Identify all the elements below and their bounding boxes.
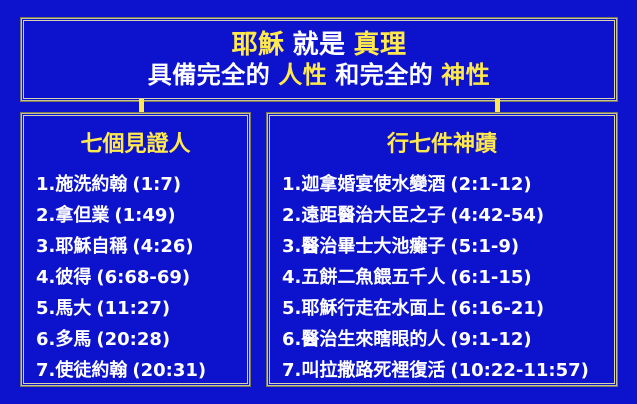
witnesses-list: 1.施洗約翰(1:7)2.拿但業(1:49)3.耶穌自稱(4:26)4.彼得(6…: [22, 170, 249, 387]
witness-item-text: 施洗約翰: [55, 170, 127, 201]
witness-item-text: 耶穌自稱: [55, 232, 127, 263]
title-line-2-segment-1: 具備完全的: [148, 61, 271, 89]
miracles-panel: 行七件神蹟 1.迦拿婚宴使水變酒(2:1-12)2.遠距醫治大臣之子(4:42-…: [267, 113, 617, 386]
witness-item-number: 5.: [36, 294, 55, 325]
witness-item: 4.彼得(6:68-69): [36, 263, 249, 294]
miracle-item-text: 醫治畢士大池癱子: [301, 232, 445, 263]
miracle-item-reference: (9:1-12): [450, 325, 531, 356]
witness-item-text: 多馬: [55, 325, 91, 356]
witness-item: 5.馬大(11:27): [36, 294, 249, 325]
miracle-item-reference: (2:1-12): [450, 170, 531, 201]
title-line-2-segment-4: 神性: [441, 61, 490, 89]
miracle-item-reference: (10:22-11:57): [450, 356, 589, 387]
miracle-item: 5.耶穌行走在水面上(6:16-21): [282, 294, 616, 325]
witness-item-number: 2.: [36, 201, 55, 232]
witnesses-heading: 七個見證人: [22, 126, 249, 158]
miracle-item-text: 迦拿婚宴使水變酒: [301, 170, 445, 201]
title-line-1-segment-3: 真理: [354, 30, 407, 60]
miracle-item-number: 3.: [282, 232, 301, 263]
title-line-2-segment-2: 人性: [278, 61, 327, 89]
witness-item: 3.耶穌自稱(4:26): [36, 232, 249, 263]
miracle-item-text: 五餅二魚餵五千人: [301, 263, 445, 294]
witness-item-number: 1.: [36, 170, 55, 201]
title-panel: 耶穌就是真理 具備完全的人性和完全的神性: [21, 18, 617, 101]
miracle-item: 6.醫治生來瞎眼的人(9:1-12): [282, 325, 616, 356]
miracle-item: 1.迦拿婚宴使水變酒(2:1-12): [282, 170, 616, 201]
witness-item-text: 拿但業: [55, 201, 109, 232]
miracles-list: 1.迦拿婚宴使水變酒(2:1-12)2.遠距醫治大臣之子(4:42-54)3.醫…: [268, 170, 616, 387]
title-line-2-segment-3: 和完全的: [335, 61, 433, 89]
title-line-1: 耶穌就是真理: [231, 31, 406, 59]
witness-item-reference: (1:49): [114, 201, 175, 232]
witness-item-reference: (20:31): [132, 356, 206, 387]
witnesses-panel: 七個見證人 1.施洗約翰(1:7)2.拿但業(1:49)3.耶穌自稱(4:26)…: [21, 113, 250, 386]
witness-item-number: 7.: [36, 356, 55, 387]
miracle-item-text: 叫拉撒路死裡復活: [301, 356, 445, 387]
miracle-item-number: 5.: [282, 294, 301, 325]
witness-item: 2.拿但業(1:49): [36, 201, 249, 232]
miracle-item-number: 7.: [282, 356, 301, 387]
witness-item: 6.多馬(20:28): [36, 325, 249, 356]
miracle-item-reference: (5:1-9): [450, 232, 519, 263]
miracle-item-text: 耶穌行走在水面上: [301, 294, 445, 325]
witness-item-reference: (20:28): [96, 325, 170, 356]
title-line-1-segment-1: 耶穌: [231, 30, 284, 60]
witness-item-reference: (4:26): [132, 232, 193, 263]
witness-item-reference: (1:7): [132, 170, 181, 201]
title-line-1-segment-2: 就是: [292, 30, 345, 60]
miracle-item-number: 4.: [282, 263, 301, 294]
miracle-item: 3.醫治畢士大池癱子(5:1-9): [282, 232, 616, 263]
miracles-heading: 行七件神蹟: [268, 126, 616, 158]
witness-item-number: 4.: [36, 263, 55, 294]
miracle-item-text: 遠距醫治大臣之子: [301, 201, 445, 232]
witness-item-text: 使徒約翰: [55, 356, 127, 387]
miracle-item-reference: (6:1-15): [450, 263, 531, 294]
miracle-item: 7.叫拉撒路死裡復活(10:22-11:57): [282, 356, 616, 387]
witness-item-number: 3.: [36, 232, 55, 263]
miracle-item-number: 2.: [282, 201, 301, 232]
witness-item-text: 彼得: [55, 263, 91, 294]
connector-line-left: [139, 99, 144, 113]
witness-item: 7.使徒約翰(20:31): [36, 356, 249, 387]
slide-canvas: { "slide": { "background_color": "#0d12c…: [0, 0, 637, 404]
connector-line-right: [495, 99, 500, 113]
miracle-item-reference: (6:16-21): [450, 294, 544, 325]
miracle-item-number: 6.: [282, 325, 301, 356]
miracle-item-text: 醫治生來瞎眼的人: [301, 325, 445, 356]
witness-item-number: 6.: [36, 325, 55, 356]
miracle-item: 4.五餅二魚餵五千人(6:1-15): [282, 263, 616, 294]
witness-item-text: 馬大: [55, 294, 91, 325]
witness-item-reference: (6:68-69): [96, 263, 190, 294]
witness-item: 1.施洗約翰(1:7): [36, 170, 249, 201]
miracle-item: 2.遠距醫治大臣之子(4:42-54): [282, 201, 616, 232]
miracle-item-number: 1.: [282, 170, 301, 201]
witness-item-reference: (11:27): [96, 294, 170, 325]
title-line-2: 具備完全的人性和完全的神性: [148, 63, 491, 89]
miracle-item-reference: (4:42-54): [450, 201, 544, 232]
